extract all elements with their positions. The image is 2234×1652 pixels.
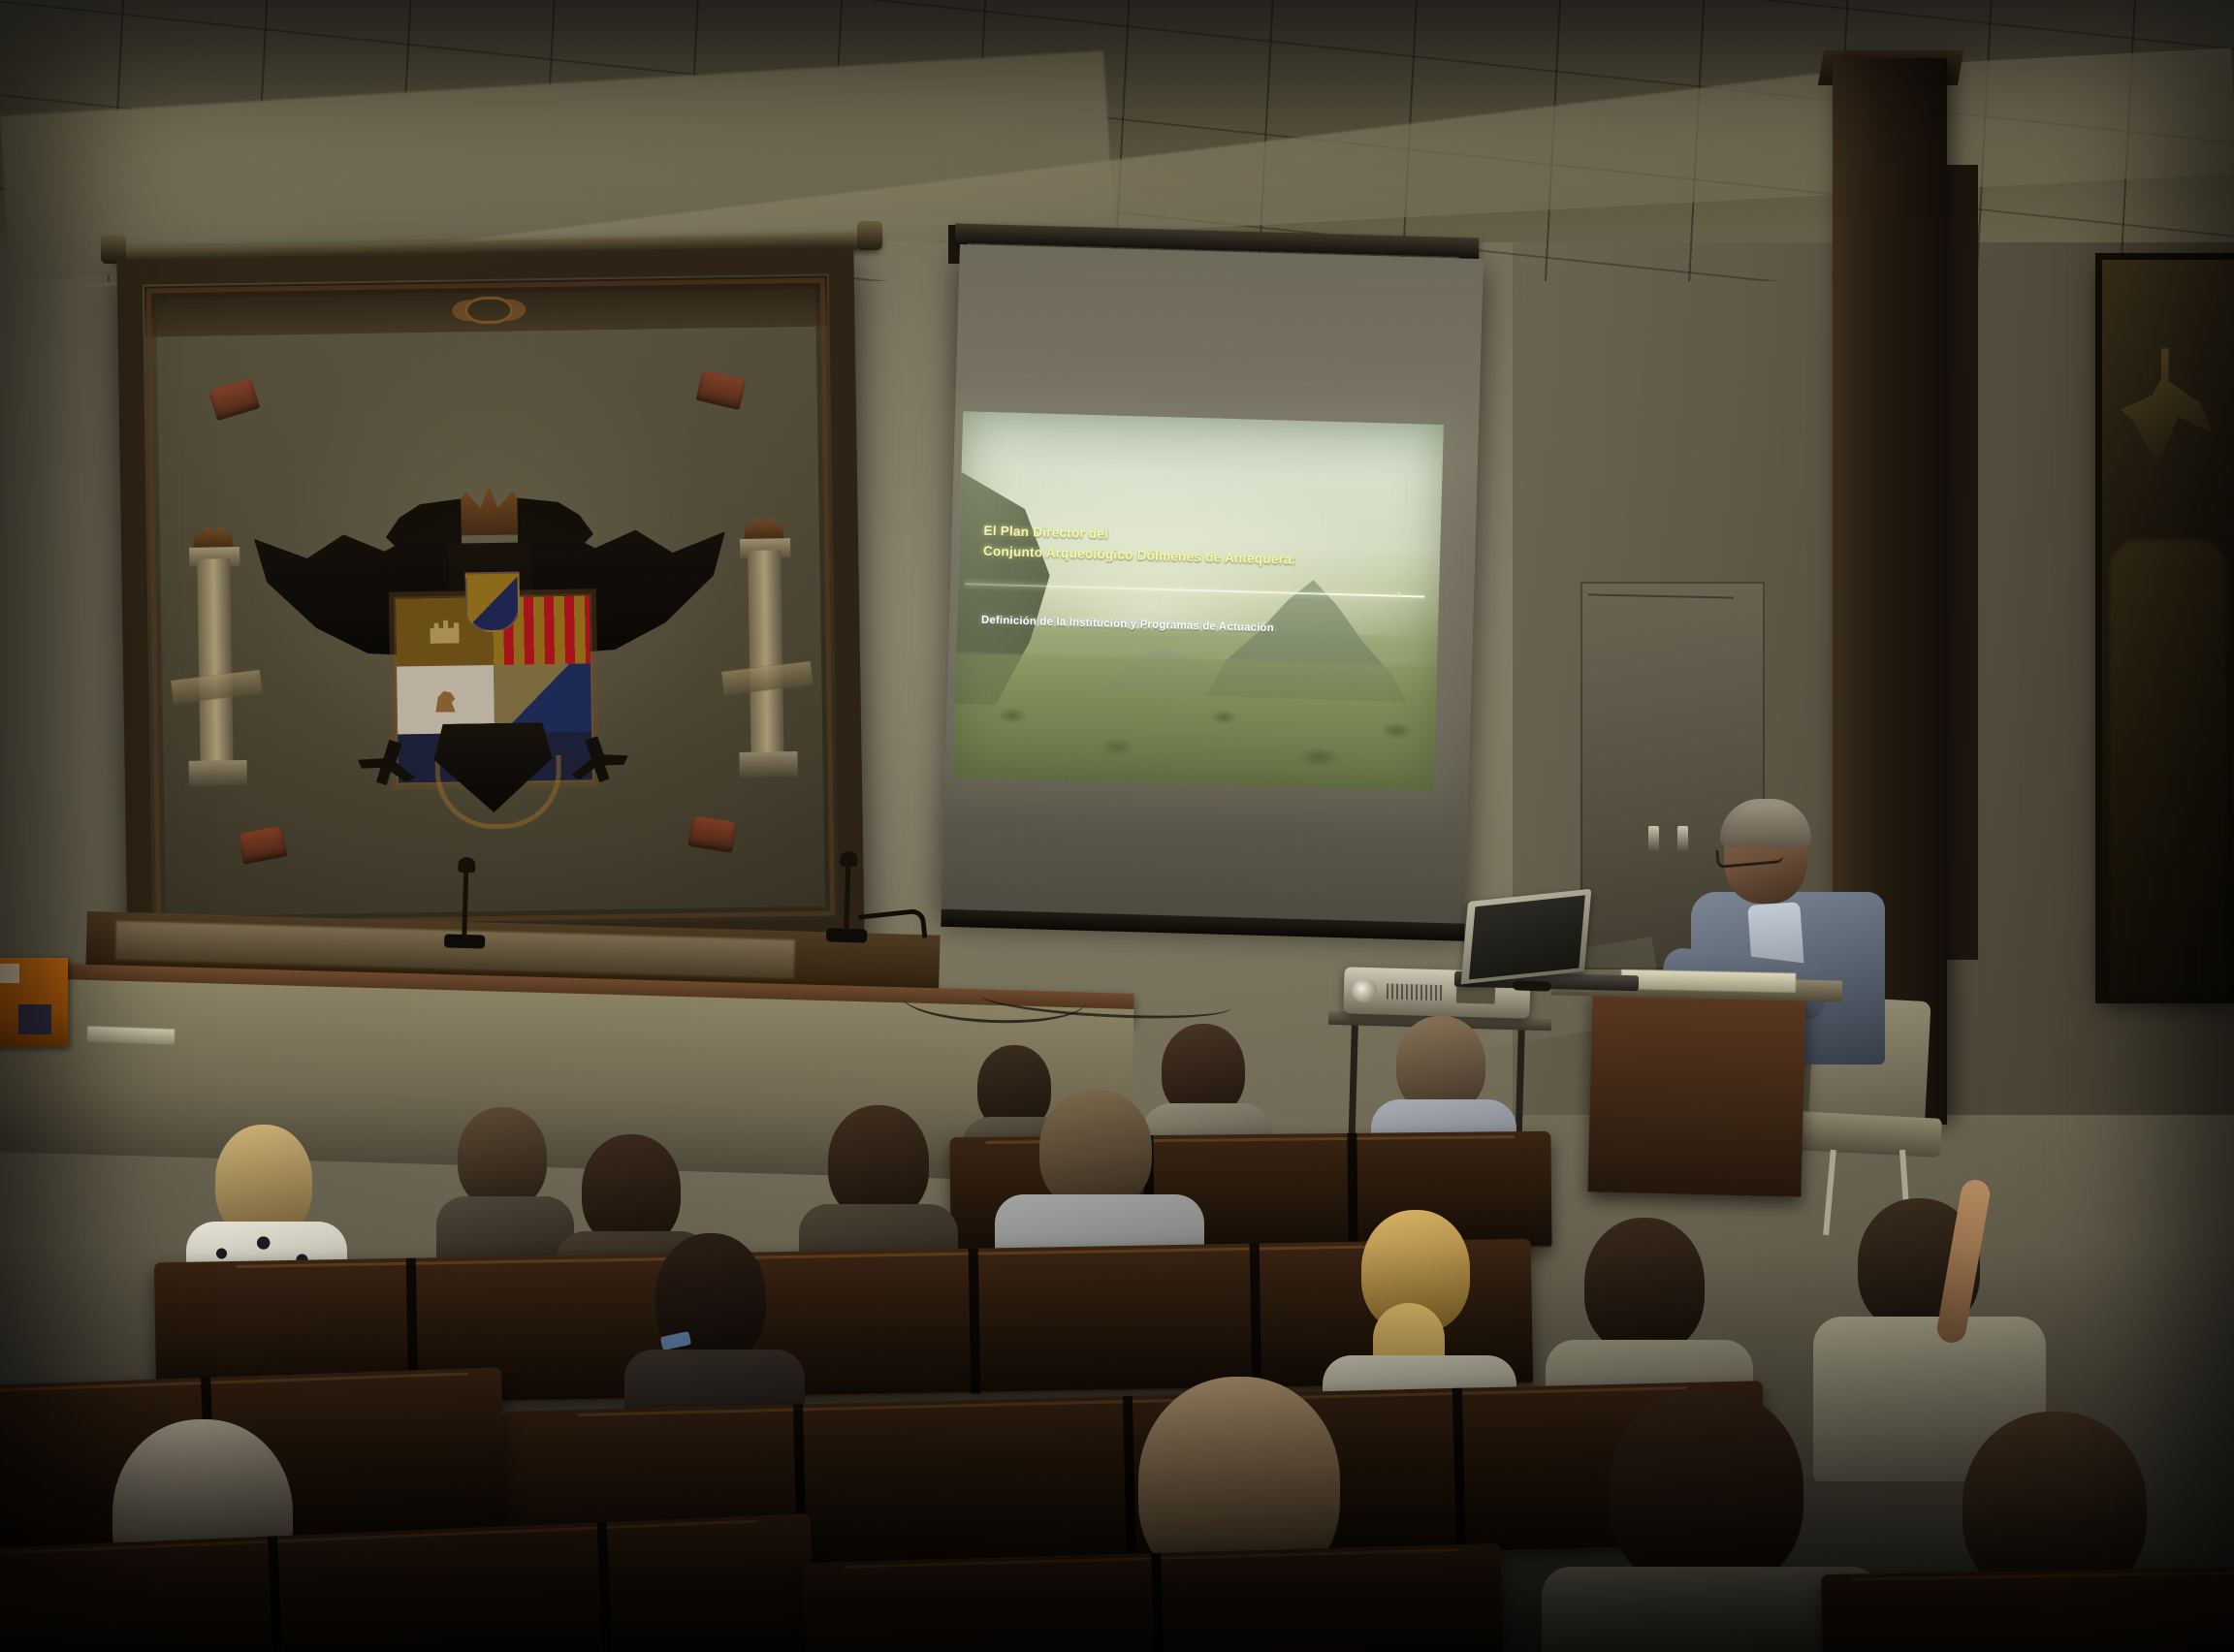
poster-white-block: [0, 964, 19, 983]
cabinet-handle-left[interactable]: [1648, 826, 1659, 853]
microphone-capsule: [840, 851, 857, 867]
painting-motif: [2121, 348, 2213, 466]
tapestry-rod-finial-right: [857, 221, 882, 250]
audience-member: [1571, 1388, 1862, 1652]
bench-row-1-right[interactable]: [1821, 1567, 2234, 1652]
painting-dark-foreground: [2110, 540, 2226, 997]
head: [1584, 1218, 1705, 1353]
presenter-hair: [1720, 799, 1811, 847]
seat-divider: [1452, 1388, 1466, 1553]
bench-row-1-center[interactable]: [802, 1543, 1505, 1652]
seat-divider: [969, 1249, 981, 1394]
conference-room-photo: El Plan Director del Conjunto Arqueológi…: [0, 0, 2234, 1652]
projected-slide: El Plan Director del Conjunto Arqueológi…: [953, 411, 1444, 791]
head: [828, 1105, 929, 1220]
projection-screen: El Plan Director del Conjunto Arqueológi…: [941, 244, 1484, 928]
framed-painting: [2102, 260, 2234, 997]
seat-divider: [597, 1522, 615, 1652]
laptop-display-panel: [1469, 895, 1585, 979]
seat-divider: [1250, 1244, 1262, 1389]
seat-divider: [268, 1536, 285, 1652]
audience-seating-area: [0, 989, 2234, 1652]
head-dark-hair: [1610, 1388, 1803, 1592]
seat-divider: [1151, 1553, 1166, 1652]
slide-vignette: [953, 411, 1444, 791]
head: [458, 1107, 547, 1208]
bench-highlight: [1849, 1571, 2234, 1580]
microphone-capsule: [458, 857, 475, 873]
head: [582, 1134, 681, 1247]
heraldic-tapestry: [116, 248, 864, 956]
head: [1039, 1090, 1152, 1210]
tapestry-inner-border: [146, 278, 835, 927]
laptop-screen[interactable]: [1461, 889, 1592, 985]
head: [1396, 1016, 1485, 1113]
